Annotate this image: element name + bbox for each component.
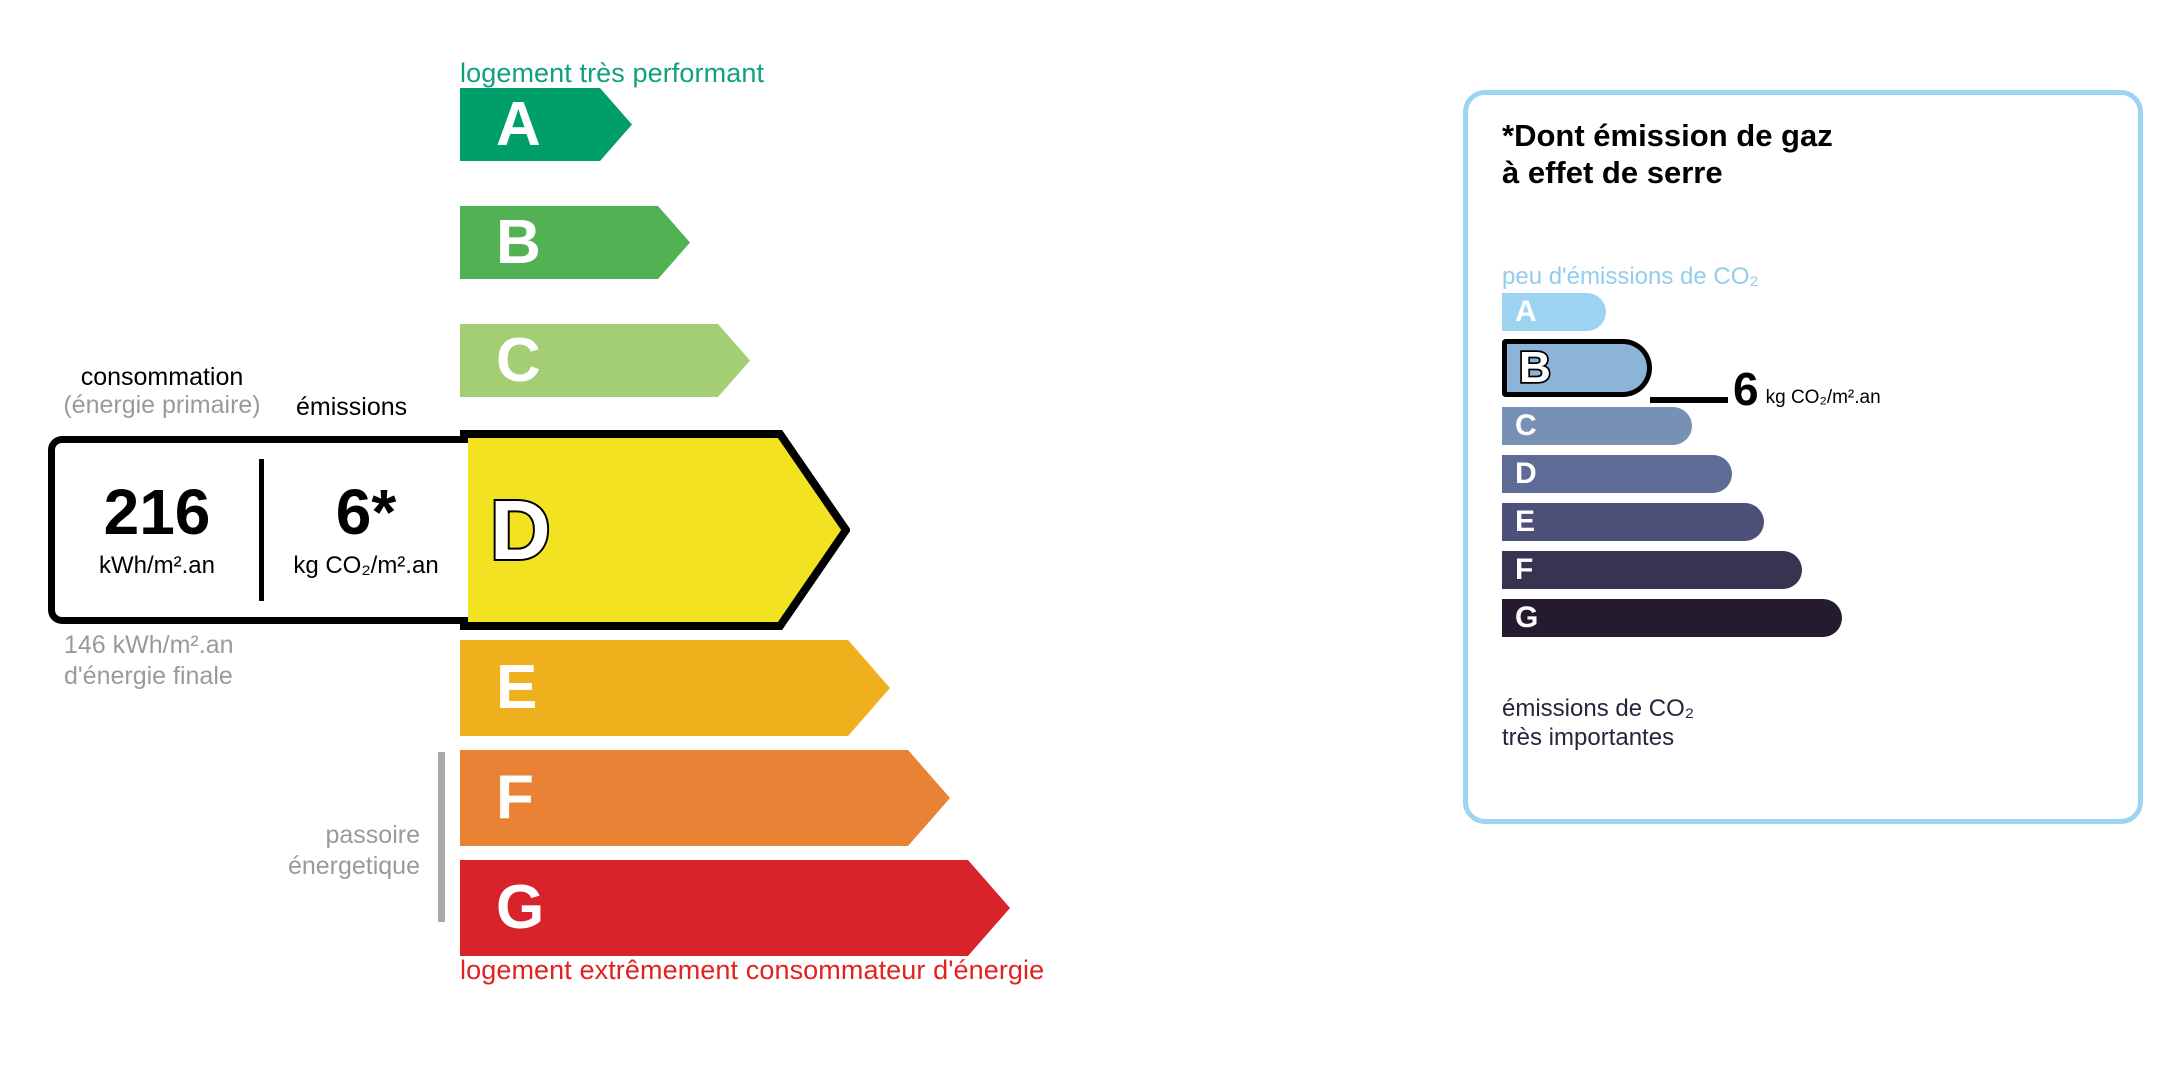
co2-class-bar-c[interactable]: C (1502, 407, 1692, 445)
energy-class-letter: F (496, 767, 534, 829)
passoire-annotation: passoire énergetique (248, 820, 420, 881)
energy-consumption-chart: logement très performant A B C (0, 0, 1380, 1079)
energy-class-bar-b[interactable]: B (460, 206, 690, 279)
final-energy-label: d'énergie finale (64, 661, 234, 692)
co2-bottom-caption: émissions de CO₂ très importantes (1502, 695, 1694, 753)
co2-title-line-1: *Dont émission de gaz (1502, 117, 1833, 154)
emission-value-cell: 6* kg CO₂/m².an (264, 443, 468, 617)
passoire-bracket (438, 752, 445, 922)
co2-class-bar-e[interactable]: E (1502, 503, 1764, 541)
energy-class-letter: C (496, 330, 541, 392)
co2-class-letter: F (1515, 555, 1533, 585)
passoire-line-1: passoire (248, 820, 420, 851)
emission-unit: kg CO₂/m².an (293, 552, 438, 580)
passoire-line-2: énergetique (248, 851, 420, 882)
energy-class-letter: G (496, 877, 544, 939)
consumption-header-sublabel: (énergie primaire) (62, 391, 262, 419)
energy-class-letter: A (496, 94, 541, 156)
co2-leader-line (1650, 397, 1728, 403)
energy-class-bar-d-selected[interactable]: D (460, 430, 850, 630)
consumption-header: consommation (énergie primaire) (62, 363, 262, 419)
energy-top-caption: logement très performant (460, 58, 764, 89)
arrow-shape-icon (460, 206, 690, 279)
co2-panel-title: *Dont émission de gaz à effet de serre (1502, 117, 1833, 191)
energy-class-letter: E (496, 657, 537, 719)
co2-class-bar-f[interactable]: F (1502, 551, 1802, 589)
consumption-header-label: consommation (81, 363, 244, 391)
emission-value: 6* (336, 480, 397, 544)
value-readout-box: 216 kWh/m².an 6* kg CO₂/m².an (48, 436, 468, 624)
consumption-value-cell: 216 kWh/m².an (55, 443, 259, 617)
co2-value-unit: kg CO₂/m².an (1766, 387, 1881, 409)
energy-class-letter: B (496, 212, 541, 274)
co2-value: 6 (1733, 366, 1759, 412)
co2-class-letter: G (1515, 603, 1538, 633)
co2-title-line-2: à effet de serre (1502, 154, 1833, 191)
co2-emissions-panel: *Dont émission de gaz à effet de serre p… (1463, 90, 2143, 824)
co2-bottom-line-2: très importantes (1502, 724, 1694, 753)
co2-class-letter: E (1515, 507, 1535, 537)
co2-class-letter: A (1515, 297, 1537, 327)
co2-class-bar-a[interactable]: A (1502, 293, 1606, 331)
co2-class-bar-g[interactable]: G (1502, 599, 1842, 637)
energy-class-bar-a[interactable]: A (460, 88, 632, 161)
co2-class-bar-d[interactable]: D (1502, 455, 1732, 493)
co2-class-letter: B (1519, 346, 1551, 390)
arrow-shape-icon (460, 88, 632, 161)
energy-class-bar-c[interactable]: C (460, 324, 750, 397)
final-energy-value: 146 kWh/m².an (64, 630, 234, 661)
energy-class-letter: D (490, 488, 551, 572)
energy-class-bar-f[interactable]: F (460, 750, 950, 846)
energy-bottom-caption: logement extrêmement consommateur d'éner… (460, 955, 1044, 986)
co2-class-letter: D (1515, 459, 1537, 489)
energy-class-bar-e[interactable]: E (460, 640, 890, 736)
co2-class-bar-b-selected[interactable]: B (1502, 339, 1652, 397)
co2-top-caption: peu d'émissions de CO₂ (1502, 263, 1759, 291)
dpe-energy-label: logement très performant A B C (0, 0, 2170, 1079)
co2-class-letter: C (1515, 411, 1537, 441)
emissions-header: émissions (296, 393, 407, 422)
energy-class-bar-g[interactable]: G (460, 860, 1010, 956)
final-energy-note: 146 kWh/m².an d'énergie finale (64, 630, 234, 691)
co2-value-readout: 6 kg CO₂/m².an (1733, 366, 1881, 412)
consumption-unit: kWh/m².an (99, 552, 215, 580)
consumption-value: 216 (104, 480, 211, 544)
co2-bottom-line-1: émissions de CO₂ (1502, 695, 1694, 724)
